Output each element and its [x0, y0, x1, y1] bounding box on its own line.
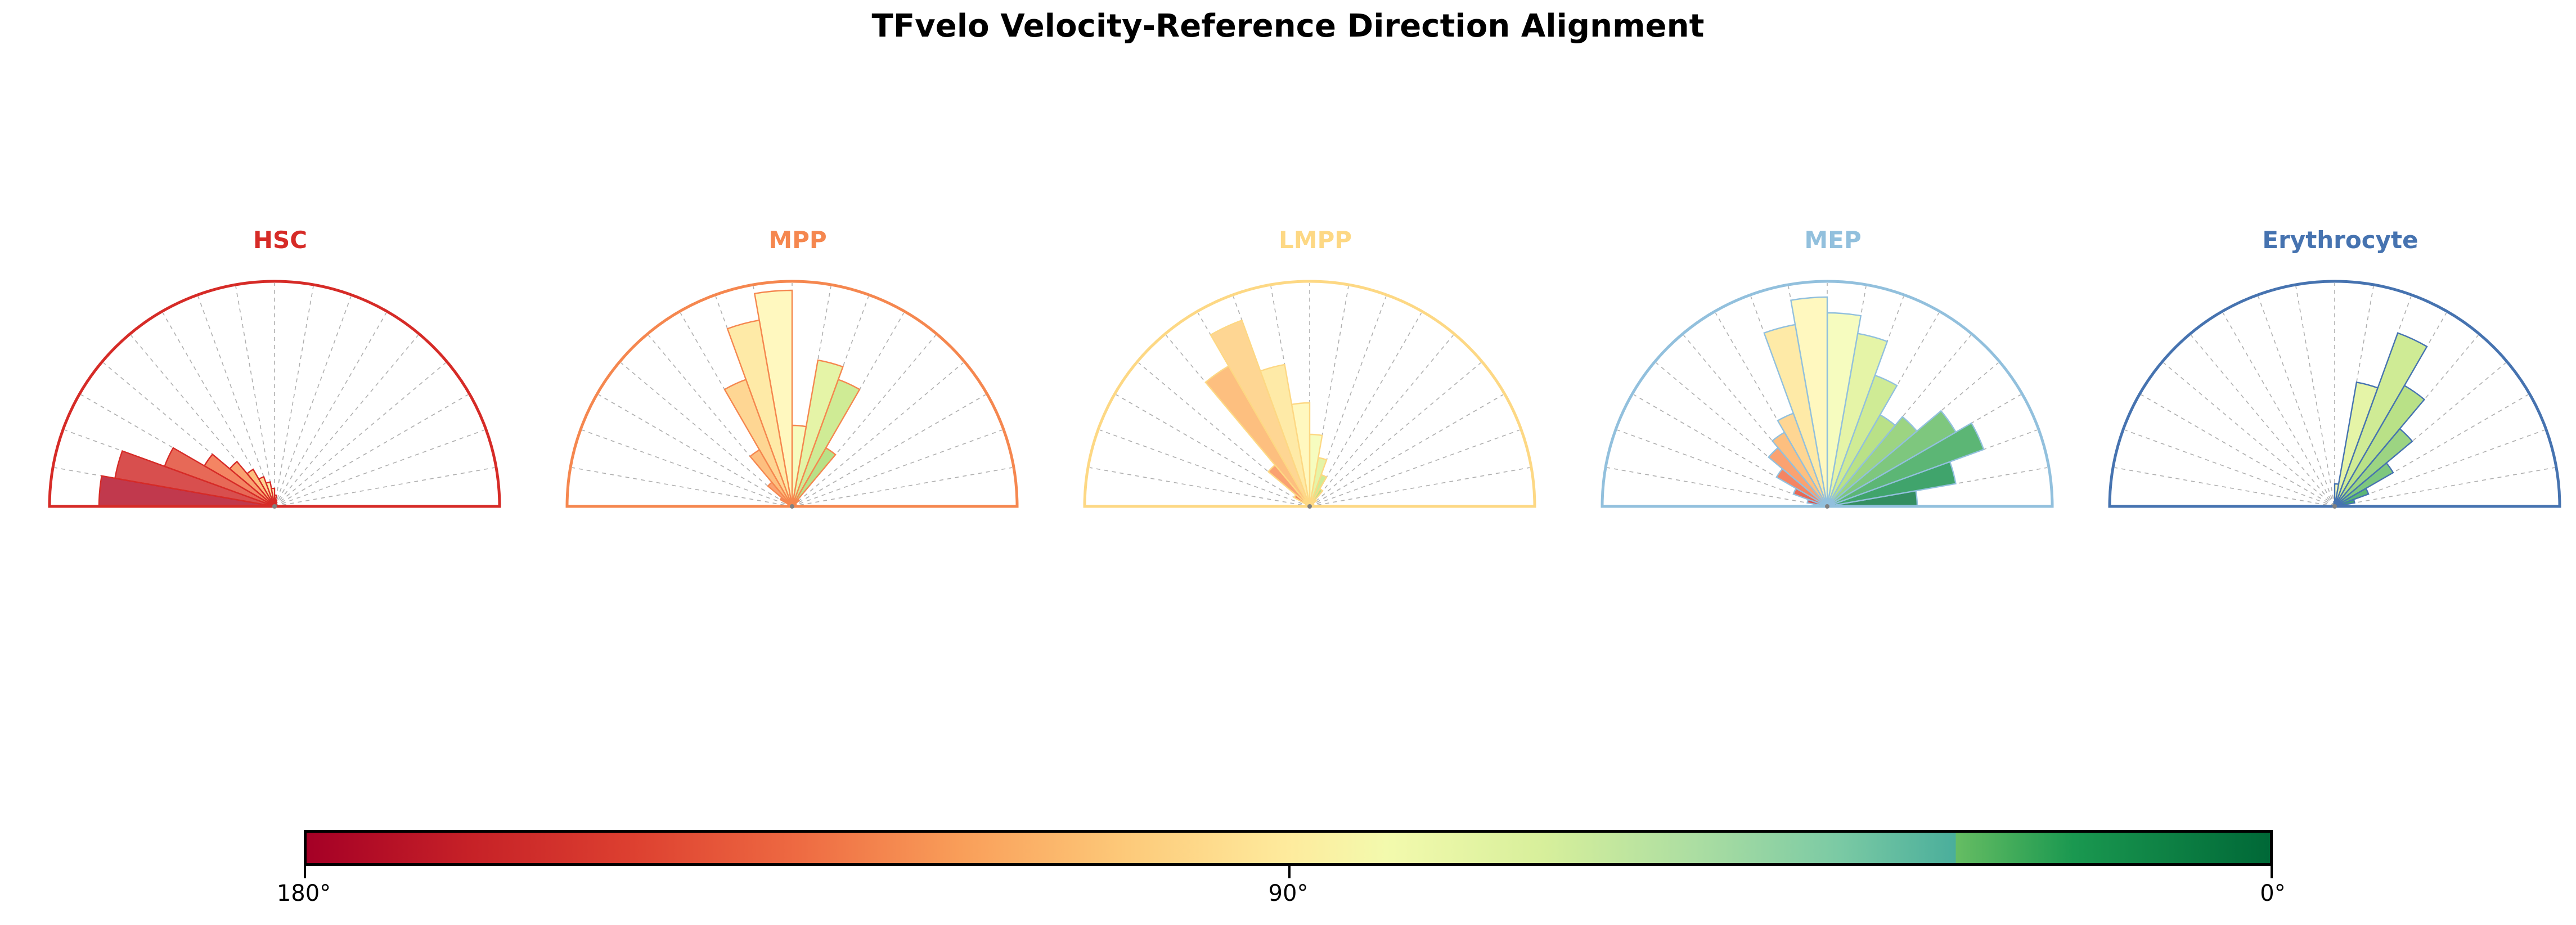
rose-plot-hsc	[21, 276, 528, 540]
colorbar-gradient	[304, 830, 2273, 866]
polar-gridlines	[2111, 283, 2558, 506]
rose-bars	[1206, 320, 1327, 506]
colorbar-tick-mark	[304, 866, 306, 878]
figure-root: TFvelo Velocity-Reference Direction Alig…	[0, 0, 2576, 925]
panel-mep: MEP	[1574, 214, 2092, 574]
colorbar-tick-mark	[2271, 866, 2273, 878]
panel-hsc: HSC	[21, 214, 539, 574]
rose-bars	[1764, 297, 1984, 506]
panel-lmpp: LMPP	[1057, 214, 1574, 574]
rose-plot-mep	[1574, 276, 2080, 540]
polar-origin	[272, 504, 277, 509]
panel-title-mep: MEP	[1574, 226, 2092, 254]
rose-plot-erythrocyte	[2082, 276, 2576, 540]
rose-bars	[2334, 333, 2427, 506]
panel-row: HSCMPPLMPPMEPErythrocyte	[0, 214, 2576, 574]
panel-title-hsc: HSC	[21, 226, 539, 254]
polar-origin	[2332, 504, 2337, 509]
rose-plot-lmpp	[1057, 276, 1563, 540]
panel-erythrocyte: Erythrocyte	[2082, 214, 2576, 574]
rose-plot-mpp	[539, 276, 1045, 540]
colorbar-tick-row: 180°90°0°	[304, 866, 2273, 917]
polar-origin	[1307, 504, 1312, 509]
rose-bars	[725, 290, 860, 506]
colorbar-tick-label: 90°	[1269, 881, 1309, 906]
polar-origin	[1825, 504, 1829, 509]
panel-title-lmpp: LMPP	[1057, 226, 1574, 254]
polar-origin	[790, 504, 794, 509]
colorbar-tick-mark	[1288, 866, 1291, 878]
page-title: TFvelo Velocity-Reference Direction Alig…	[0, 8, 2576, 44]
colorbar-tick-label: 0°	[2260, 881, 2285, 906]
colorbar-tick-label: 180°	[277, 881, 331, 906]
panel-title-mpp: MPP	[539, 226, 1057, 254]
panel-title-erythrocyte: Erythrocyte	[2082, 226, 2576, 254]
rose-bars	[99, 448, 277, 506]
colorbar	[304, 830, 2273, 866]
panel-mpp: MPP	[539, 214, 1057, 574]
